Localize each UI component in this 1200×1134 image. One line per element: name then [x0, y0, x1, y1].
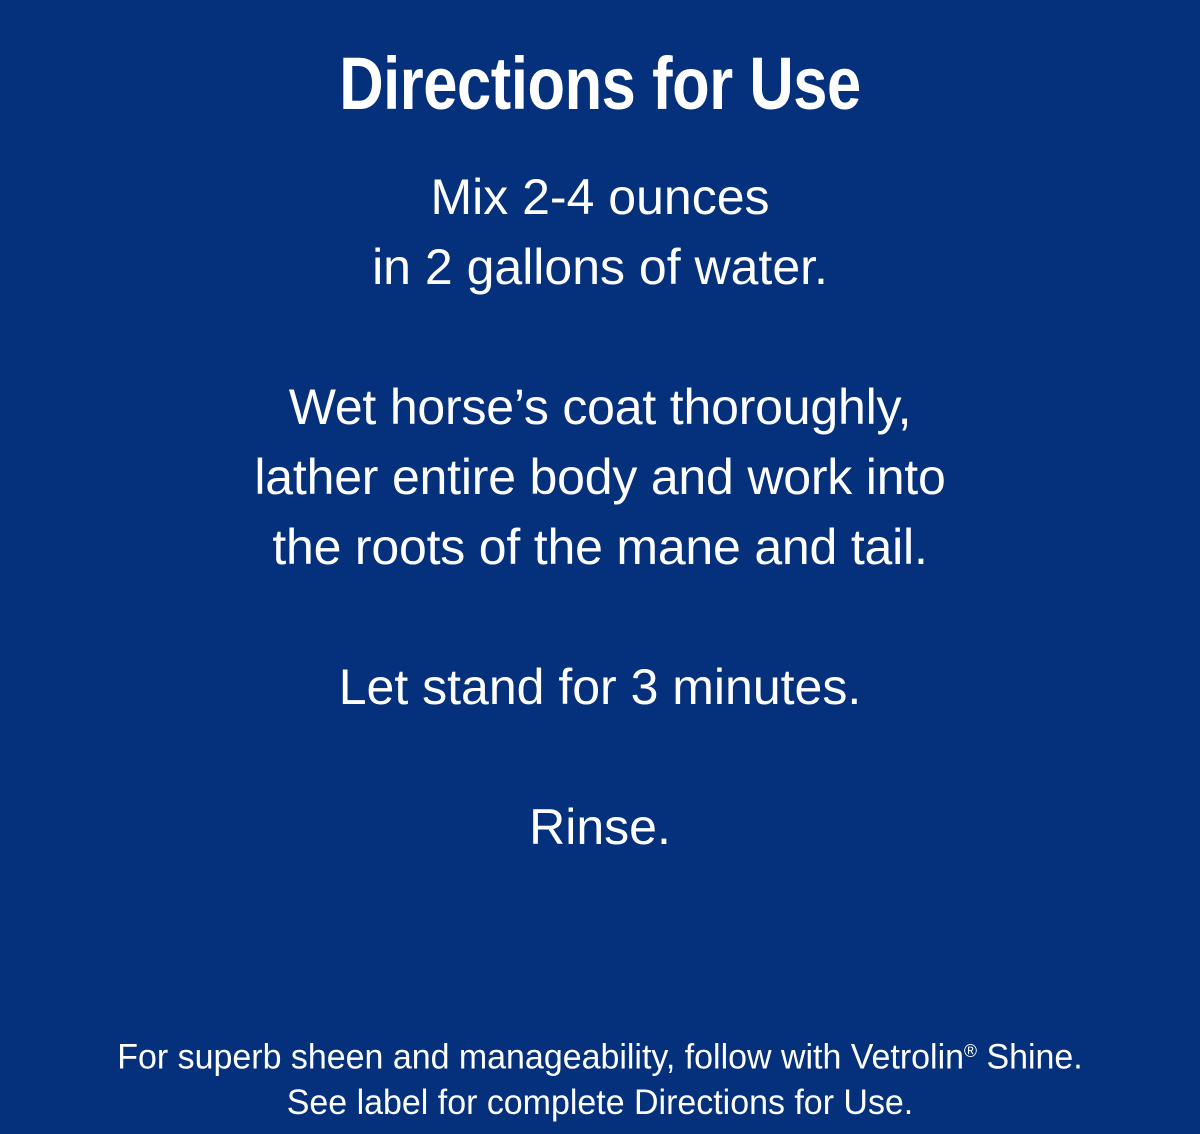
step-rinse-line-1: Rinse.	[0, 792, 1200, 862]
step-lather-line-3: the roots of the mane and tail.	[0, 512, 1200, 582]
step-stand: Let stand for 3 minutes.	[0, 652, 1200, 722]
step-stand-line-1: Let stand for 3 minutes.	[0, 652, 1200, 722]
footer-line-1: For superb sheen and manageability, foll…	[18, 1028, 1182, 1080]
step-mix-line-2: in 2 gallons of water.	[0, 232, 1200, 302]
step-lather: Wet horse’s coat thoroughly, lather enti…	[0, 372, 1200, 582]
footer-brand-tail: Shine.	[977, 1037, 1083, 1076]
step-lather-line-1: Wet horse’s coat thoroughly,	[0, 372, 1200, 442]
registered-trademark-icon: ®	[964, 1041, 977, 1061]
step-mix-line-1: Mix 2-4 ounces	[0, 162, 1200, 232]
footer-brand-lead: For superb sheen and manageability, foll…	[117, 1037, 964, 1076]
footer-note: For superb sheen and manageability, foll…	[0, 1028, 1200, 1126]
footer-line-2: See label for complete Directions for Us…	[18, 1080, 1182, 1126]
step-mix: Mix 2-4 ounces in 2 gallons of water.	[0, 162, 1200, 302]
page-title: Directions for Use	[102, 44, 1098, 124]
step-lather-line-2: lather entire body and work into	[0, 442, 1200, 512]
instructions-block: Mix 2-4 ounces in 2 gallons of water. We…	[0, 162, 1200, 862]
step-rinse: Rinse.	[0, 792, 1200, 862]
directions-for-use-panel: Directions for Use Mix 2-4 ounces in 2 g…	[0, 0, 1200, 1134]
